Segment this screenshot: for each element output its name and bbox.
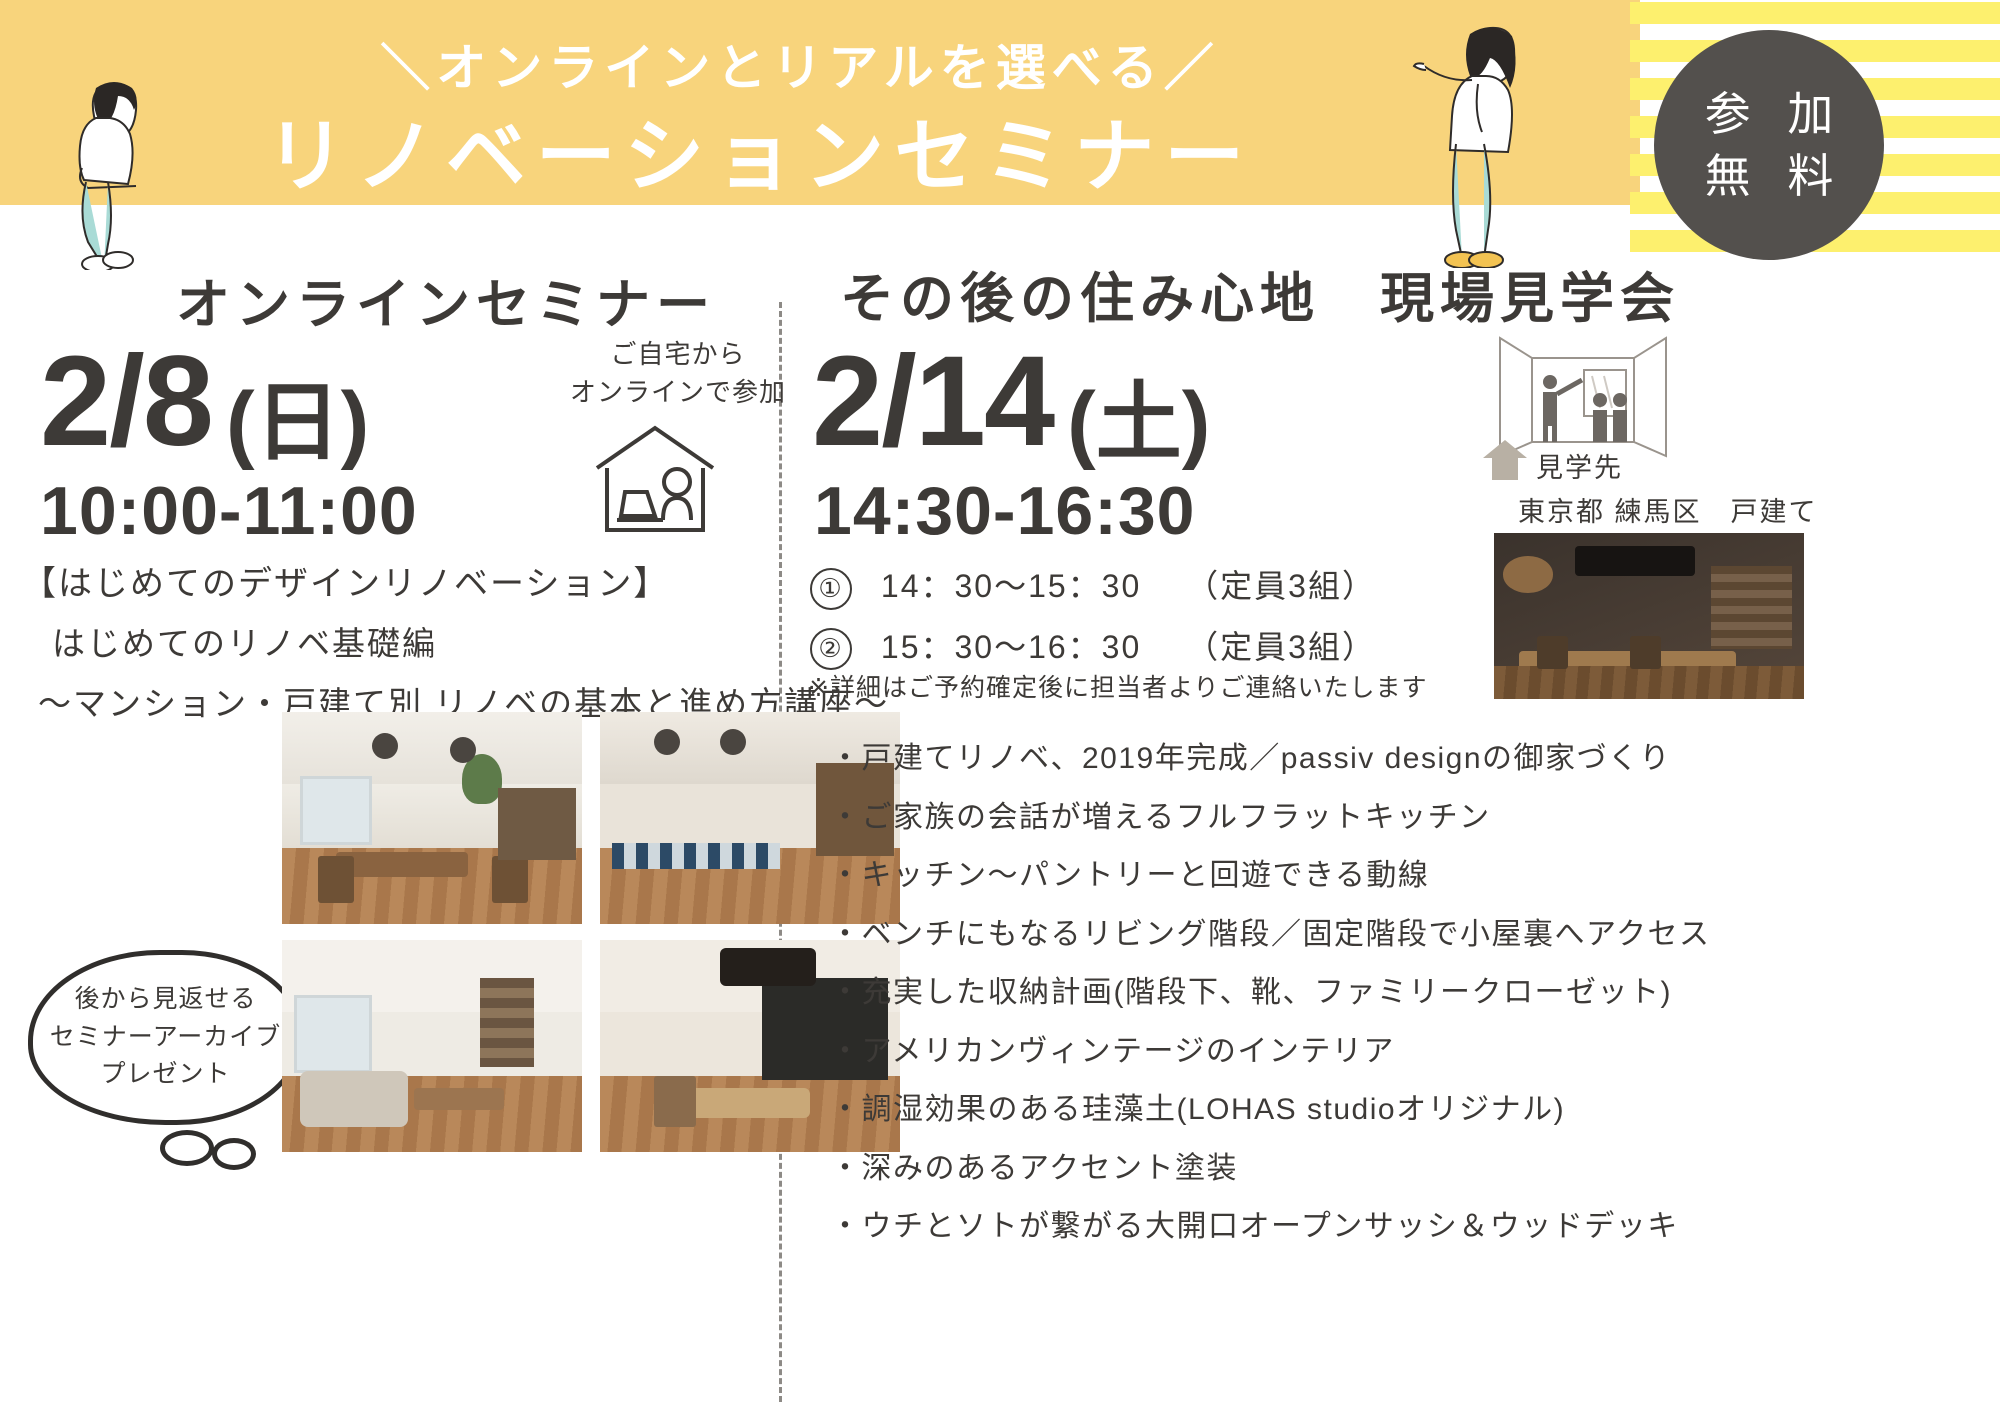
left-date: 2/8: [40, 338, 212, 466]
pointing-woman-illustration: [1400, 18, 1570, 268]
bubble-dot-large: [160, 1130, 214, 1166]
right-day-of-week: (土): [1067, 380, 1210, 466]
header-title: リノベーションセミナー: [180, 92, 1340, 208]
online-note-line-1: ご自宅から: [570, 336, 786, 374]
feature-item: ・ベンチにもなるリビング階段／固定階段で小屋裏へアクセス: [830, 906, 1711, 965]
session-capacity: （定員3組）: [1186, 629, 1376, 665]
session-capacity: （定員3組）: [1186, 568, 1376, 604]
feature-item: ・アメリカンヴィンテージのインテリア: [830, 1023, 1711, 1082]
venue-label: 見学先: [1536, 446, 1623, 485]
sitting-woman-illustration: [52, 70, 182, 270]
feature-item: ・調湿効果のある珪藻土(LOHAS studioオリジナル): [830, 1081, 1711, 1140]
header-kicker: ＼オンラインとリアルを選べる／: [300, 28, 1300, 100]
bubble-line-3: プレゼント: [100, 1056, 230, 1094]
home-icon: [1482, 438, 1528, 482]
interior-dining-room-photo: [282, 712, 582, 924]
left-section-title: オンラインセミナー: [176, 260, 716, 339]
left-subtitle: はじめてのリノベ基礎編: [52, 618, 437, 669]
reservation-notice: ※詳細はご予約確定後に担当者よりご連絡いたします: [808, 668, 1427, 704]
left-time: 10:00-11:00: [40, 472, 418, 550]
feature-list: ・戸建てリノベ、2019年完成／passiv designの御家づくり ・ご家族…: [830, 730, 1711, 1257]
right-date: 2/14: [812, 338, 1053, 466]
session-number: ①: [810, 568, 852, 610]
feature-item: ・ご家族の会話が増えるフルフラットキッチン: [830, 789, 1711, 848]
bubble-dot-small: [212, 1138, 256, 1170]
interior-living-room-photo: [282, 940, 582, 1152]
left-day-of-week: (日): [226, 380, 369, 466]
left-title-bracket: 【はじめてのデザインリノベーション】: [22, 558, 669, 611]
feature-item: ・キッチン～パントリーと回遊できる動線: [830, 847, 1711, 906]
interior-dining-vintage-photo: [1494, 533, 1804, 699]
right-date-block: 2/14 (土): [812, 338, 1210, 466]
feature-item: ・充実した収納計画(階段下、靴、ファミリークローゼット): [830, 964, 1711, 1023]
badge-line-1: 参 加: [1693, 83, 1846, 145]
feature-item: ・ウチとソトが繋がる大開口オープンサッシ＆ウッドデッキ: [830, 1198, 1711, 1257]
session-number: ②: [810, 628, 852, 670]
right-time: 14:30-16:30: [814, 472, 1195, 550]
house-with-laptop-person-icon: [585, 420, 725, 540]
feature-item: ・戸建てリノベ、2019年完成／passiv designの御家づくり: [830, 730, 1711, 789]
online-note-line-2: オンラインで参加: [570, 374, 786, 412]
session-row: ① 14：30～15：30 （定員3組）: [810, 556, 1376, 617]
bubble-line-1: 後から見返せる: [74, 981, 256, 1019]
feature-item: ・深みのあるアクセント塗装: [830, 1140, 1711, 1199]
left-date-block: 2/8 (日): [40, 338, 369, 466]
online-note: ご自宅から オンラインで参加: [570, 336, 786, 411]
badge-line-2: 無 料: [1693, 145, 1846, 207]
right-section-title: その後の住み心地 現場見学会: [840, 254, 1680, 333]
archive-present-thought-bubble: 後から見返せる セミナーアーカイブ プレゼント: [28, 950, 303, 1125]
session-list: ① 14：30～15：30 （定員3組） ② 15：30～16：30 （定員3組…: [810, 556, 1376, 678]
session-time: 15：30～16：30: [881, 629, 1141, 665]
left-column-online-seminar: オンラインセミナー 2/8 (日) 10:00-11:00 【はじめてのデザイン…: [0, 250, 779, 1414]
right-column-site-tour: その後の住み心地 現場見学会 2/14 (土) 14:30-16:30 見学: [800, 250, 2000, 1414]
venue-address: 東京都 練馬区 戸建て: [1518, 490, 1818, 529]
bubble-line-2: セミナーアーカイブ: [50, 1019, 282, 1057]
poster-root: ＼オンラインとリアルを選べる／ リノベーションセミナー 参 加 無 料 オンライ…: [0, 0, 2000, 1414]
session-time: 14：30～15：30: [881, 568, 1141, 604]
free-participation-badge: 参 加 無 料: [1654, 30, 1884, 260]
